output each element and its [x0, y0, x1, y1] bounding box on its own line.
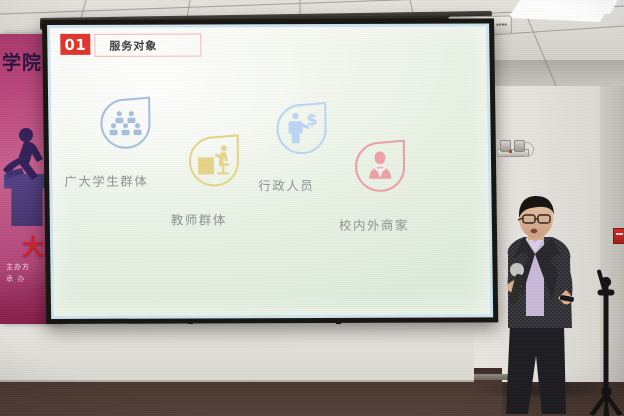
- slide-item-label-merchants: 校内外商家: [339, 215, 409, 234]
- slide-item-label-admin: 行政人员: [258, 175, 314, 194]
- slide-item-teachers: [186, 131, 239, 183]
- group-of-people-icon: [97, 94, 150, 146]
- presenter-trousers: [506, 324, 566, 414]
- roller-brand-label: ▪▪▪▪: [496, 22, 507, 27]
- slide-title-box: 服务对象: [94, 33, 201, 56]
- slide-item-admin: $: [273, 99, 326, 151]
- presenter: [478, 196, 598, 416]
- slide-item-students: [97, 94, 150, 146]
- slide-item-label-teachers: 教师群体: [171, 209, 227, 228]
- svg-text:$: $: [306, 110, 317, 129]
- slide-item-label-students: 广大学生群体: [64, 171, 148, 190]
- slide-item-merchants: [352, 137, 405, 189]
- screenshot-root: 学院 大 主办方 承 办 ▪▪▪▪ 01 服务对象: [0, 0, 624, 416]
- businessman-bust-icon: [352, 137, 405, 189]
- presentation-slide: 01 服务对象: [50, 26, 490, 315]
- whiteboard: [0, 318, 474, 382]
- projection-screen: 01 服务对象: [42, 18, 498, 324]
- teacher-at-desk-icon: [186, 131, 239, 183]
- slide-number-badge: 01: [60, 34, 90, 55]
- exit-sign: [613, 228, 624, 244]
- screen-border: 01 服务对象: [47, 23, 493, 319]
- person-with-money-icon: $: [273, 99, 326, 151]
- banner-title-text: 学院: [2, 48, 42, 75]
- banner-highlight-text: 大: [22, 230, 44, 262]
- emergency-light: [497, 140, 527, 155]
- slide-title: 服务对象: [109, 37, 157, 53]
- emergency-light-indicator: [509, 150, 512, 153]
